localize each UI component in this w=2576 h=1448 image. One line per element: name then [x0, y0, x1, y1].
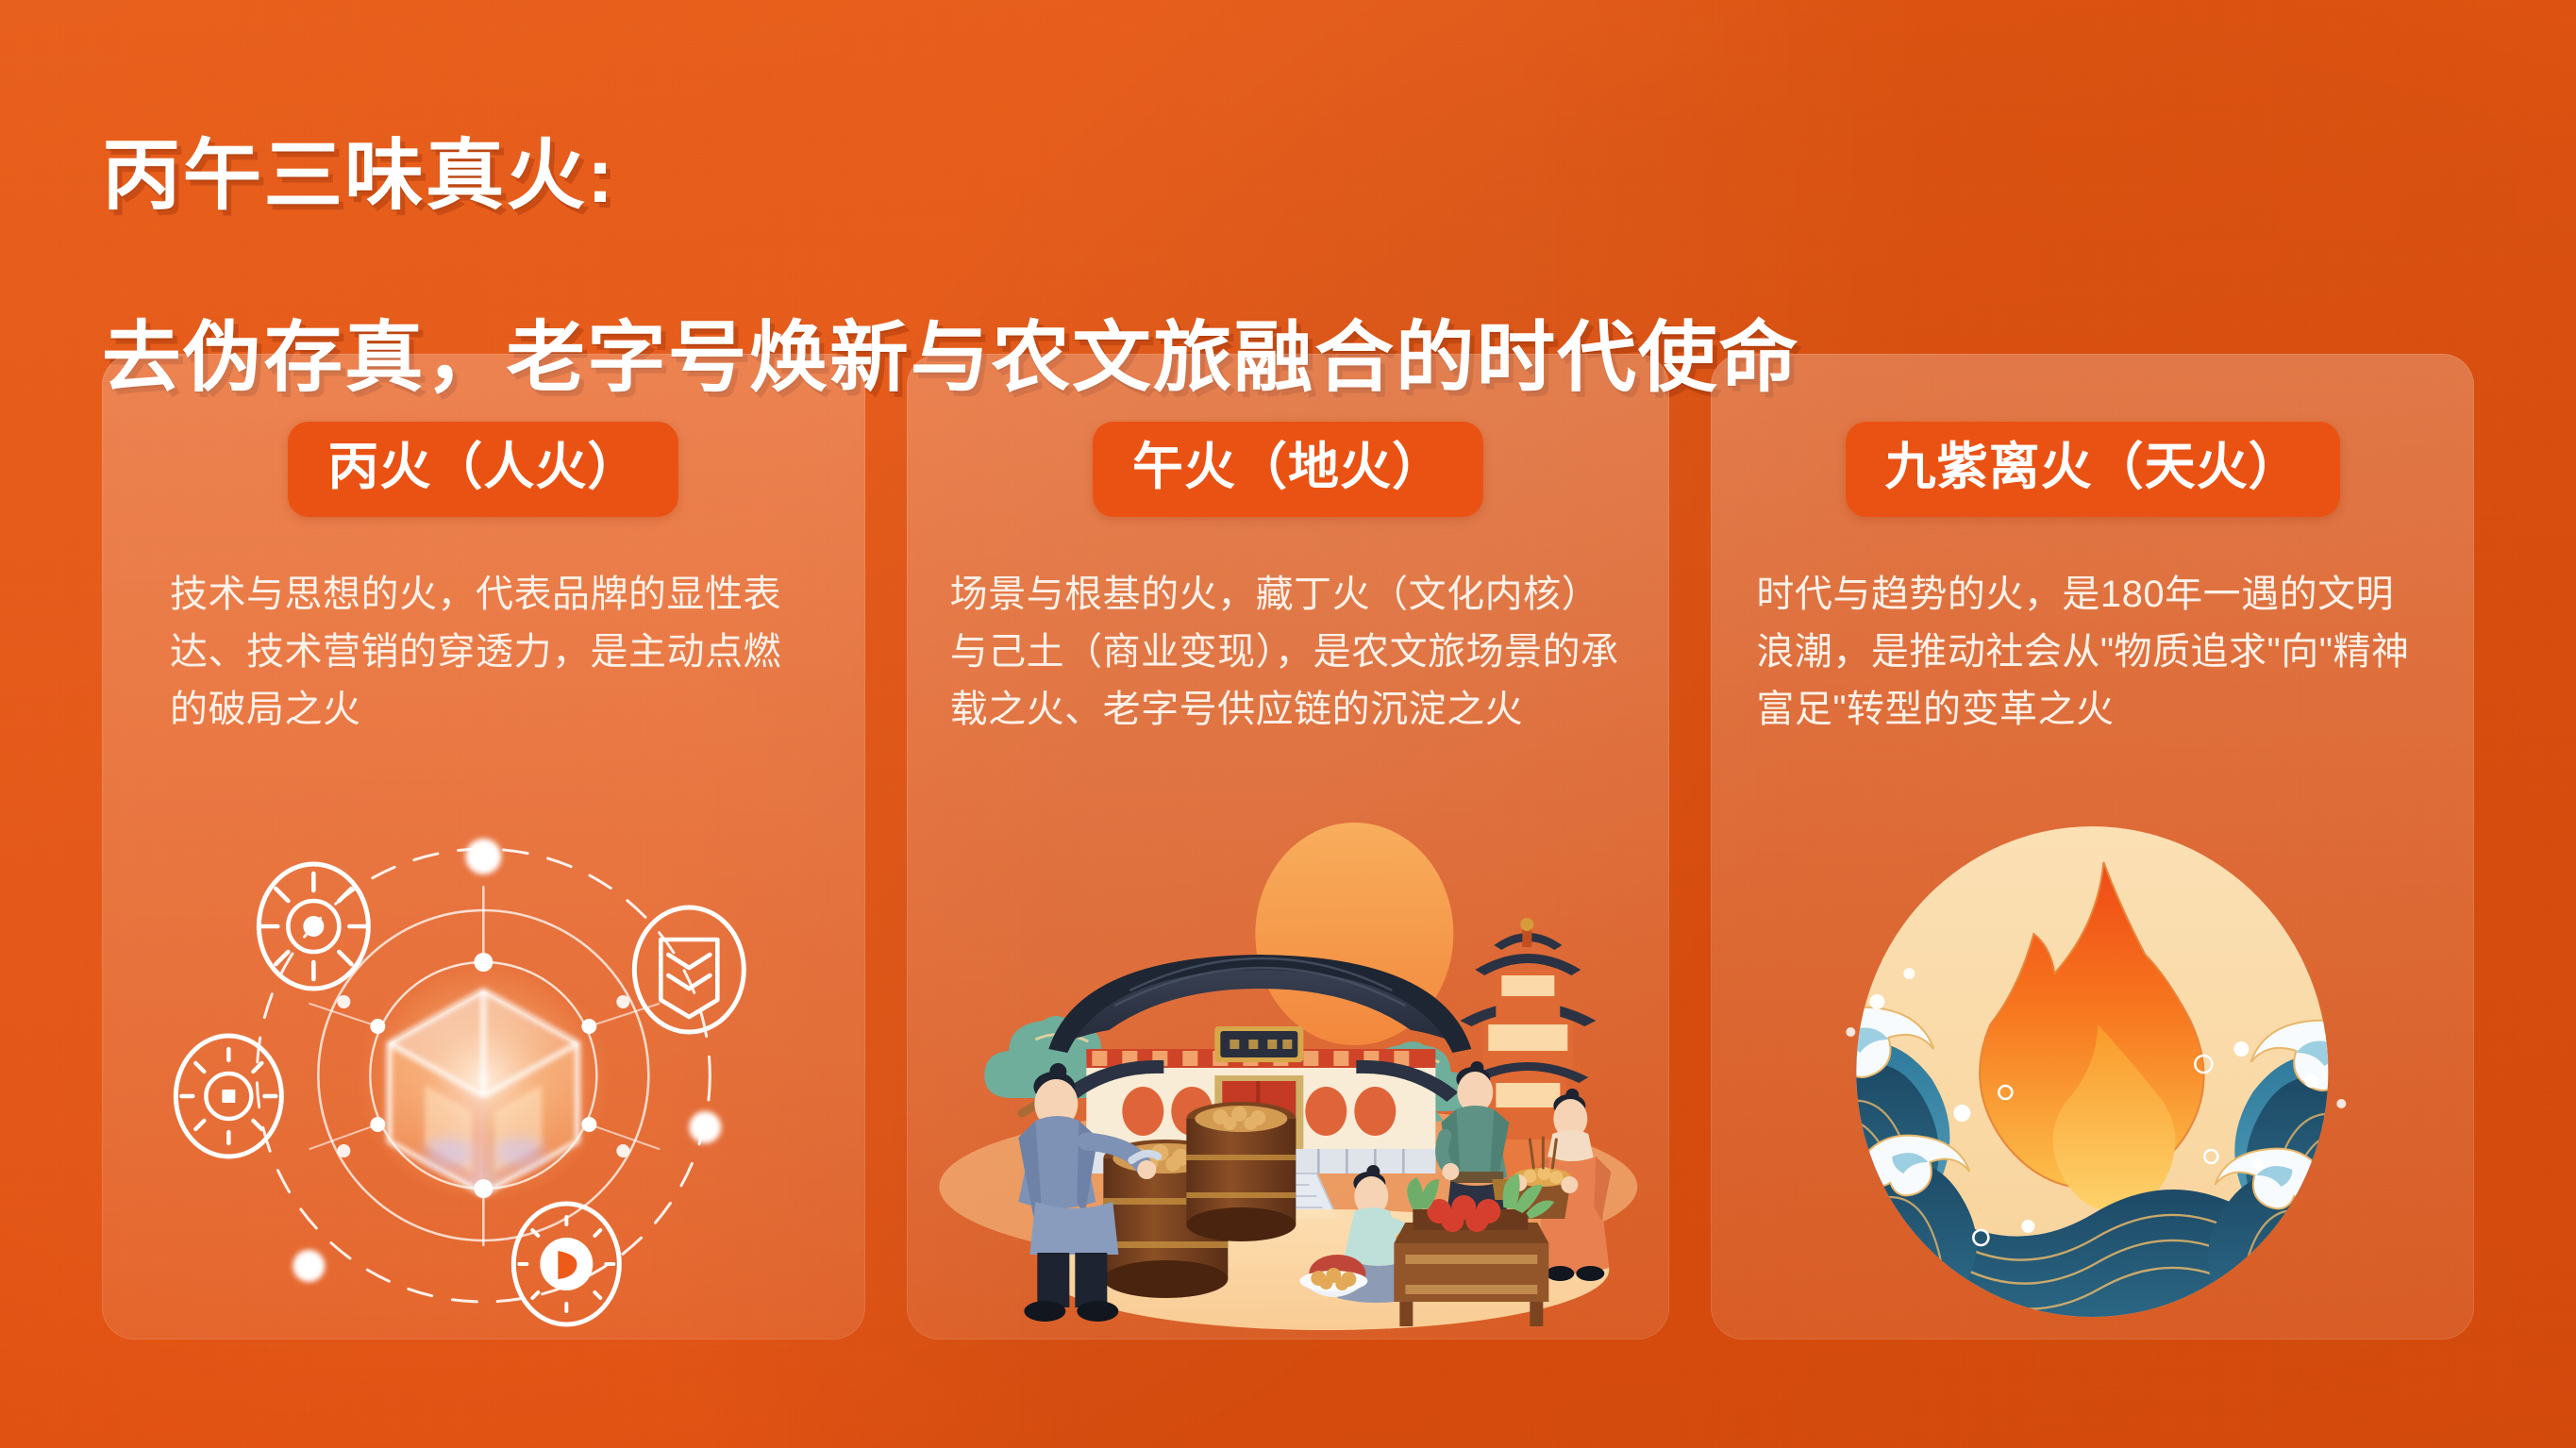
illustration-flame-waves [1711, 802, 2474, 1330]
sun-icon [176, 1036, 281, 1157]
layers-icon [634, 907, 744, 1032]
play-icon [513, 1204, 619, 1324]
card-body-2: 场景与根基的火，藏丁火（文化内核）与己土（商业变现），是农文旅场景的承载之火、老… [907, 566, 1670, 738]
steamer-basket-icon [1186, 1102, 1296, 1241]
card-heading-wrap-2: 午火（地火） [907, 422, 1670, 517]
card-heading-2: 午火（地火） [1093, 422, 1483, 517]
card-heading-wrap-1: 丙火（人火） [102, 422, 865, 517]
card-heading-wrap-3: 九紫离火（天火） [1711, 422, 2474, 517]
card-wu-fire[interactable]: 午火（地火） 场景与根基的火，藏丁火（文化内核）与己土（商业变现），是农文旅场景… [907, 354, 1670, 1340]
page-title-line-1: 丙午三味真火: [102, 131, 2316, 223]
card-row: 丙火（人火） 技术与思想的火，代表品牌的显性表达、技术营销的穿透力，是主动点燃的… [102, 354, 2474, 1340]
card-body-1: 技术与思想的火，代表品牌的显性表达、技术营销的穿透力，是主动点燃的破局之火 [102, 566, 865, 738]
gear-icon [259, 864, 368, 989]
illustration-tech-cube [102, 802, 865, 1330]
card-bing-fire[interactable]: 丙火（人火） 技术与思想的火，代表品牌的显性表达、技术营销的穿透力，是主动点燃的… [102, 354, 865, 1340]
card-heading-3: 九紫离火（天火） [1846, 422, 2340, 517]
illustration-village-market [907, 802, 1670, 1330]
card-jiuzi-fire[interactable]: 九紫离火（天火） 时代与趋势的火，是180年一遇的文明浪潮，是推动社会从"物质追… [1711, 354, 2474, 1340]
card-body-3: 时代与趋势的火，是180年一遇的文明浪潮，是推动社会从"物质追求"向"精神富足"… [1711, 566, 2474, 738]
card-heading-1: 丙火（人火） [288, 422, 678, 517]
